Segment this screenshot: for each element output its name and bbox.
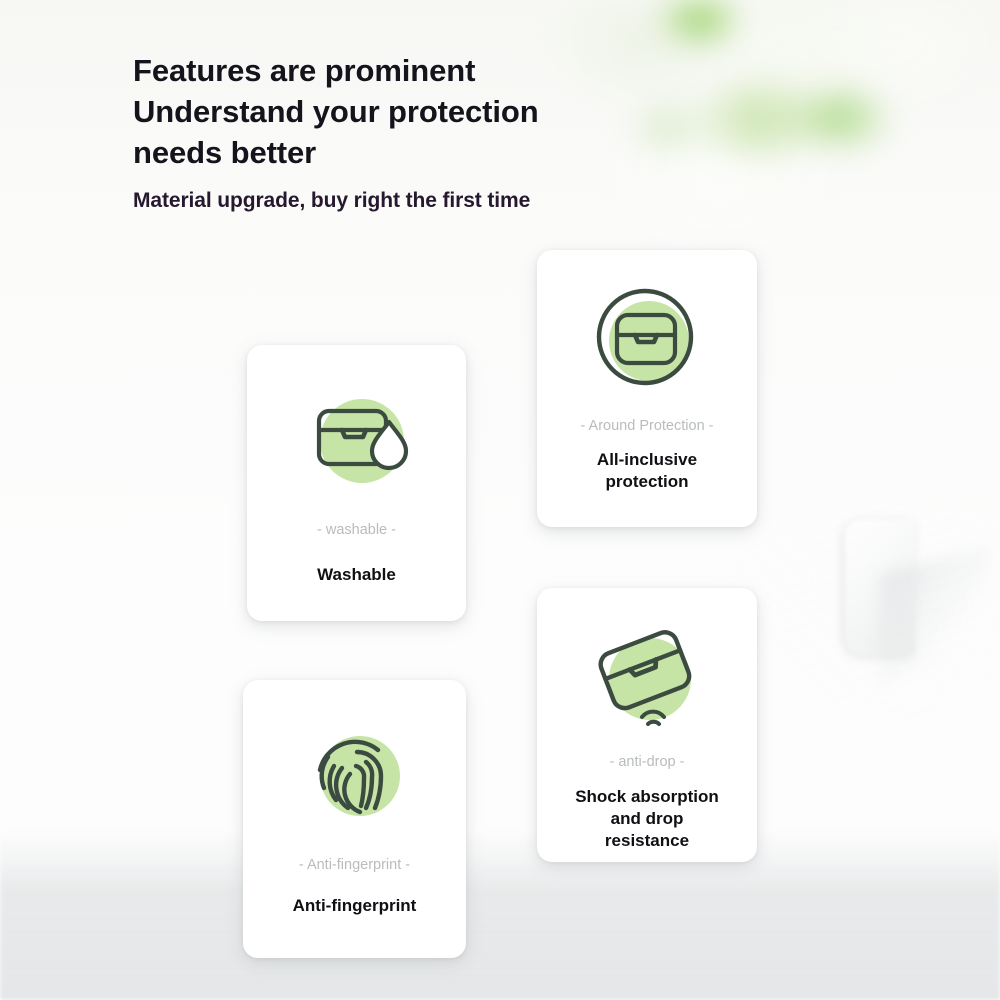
page-title: Features are prominent Understand your p… <box>133 50 753 173</box>
background-surface-band <box>0 830 1000 1000</box>
card-tag: - anti-drop - <box>610 753 685 771</box>
feature-card-anti-drop[interactable]: - anti-drop - Shock absorption and drop … <box>537 588 757 862</box>
heading-block: Features are prominent Understand your p… <box>133 50 753 215</box>
card-title-line-2: and drop <box>611 809 684 828</box>
card-tag: - washable - <box>317 521 396 539</box>
feature-card-around-protection[interactable]: - Around Protection - All-inclusive prot… <box>537 250 757 527</box>
tilted-case-bounce-icon <box>588 621 706 733</box>
card-icon-wrapper <box>591 283 703 395</box>
card-icon-wrapper <box>297 389 417 489</box>
card-tag: - Around Protection - <box>581 417 714 435</box>
card-title: All-inclusive protection <box>597 449 697 493</box>
feature-card-washable[interactable]: - washable - Washable <box>247 345 466 621</box>
feature-card-anti-fingerprint[interactable]: - Anti-fingerprint - Anti-fingerprint <box>243 680 466 958</box>
card-tag: - Anti-fingerprint - <box>299 856 410 874</box>
headline-line-1: Features are prominent <box>133 50 753 91</box>
card-title-line-3: resistance <box>605 831 689 850</box>
card-icon-wrapper <box>300 722 410 826</box>
infographic-canvas: Features are prominent Understand your p… <box>0 0 1000 1000</box>
card-title-line-2: protection <box>605 472 688 491</box>
case-in-circle-icon <box>591 283 703 395</box>
card-icon-wrapper <box>588 621 706 733</box>
headline-line-2: Understand your protection <box>133 91 753 132</box>
headline-line-3: needs better <box>133 132 753 173</box>
card-title-line-1: Shock absorption <box>575 787 719 806</box>
page-subtitle: Material upgrade, buy right the first ti… <box>133 187 753 215</box>
case-with-water-drop-icon <box>297 389 417 489</box>
card-title: Washable <box>317 564 396 586</box>
card-title: Anti-fingerprint <box>293 895 417 917</box>
fingerprint-icon <box>300 722 410 826</box>
card-title-line-1: All-inclusive <box>597 450 697 469</box>
card-title: Shock absorption and drop resistance <box>575 786 719 852</box>
